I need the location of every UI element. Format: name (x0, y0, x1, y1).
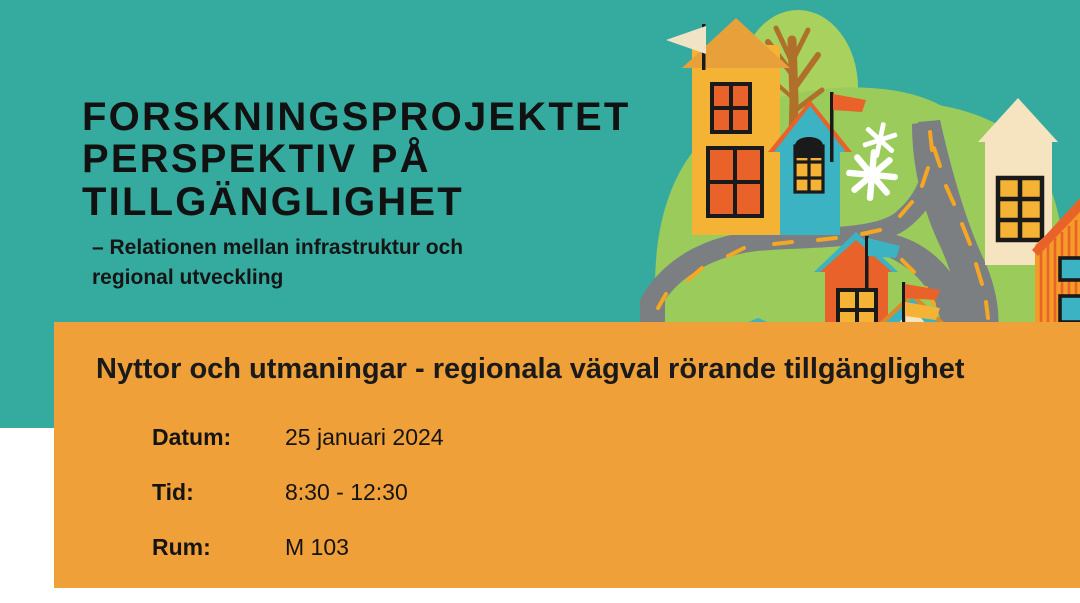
poster-slide: FORSKNINGSPROJEKTET PERSPEKTIV PÅ TILLGÄ… (0, 0, 1080, 603)
subtitle-line-2: regional utveckling (92, 263, 612, 293)
detail-row-date: Datum: 25 januari 2024 (152, 424, 444, 451)
orange-info-panel: Nyttor och utmaningar - regionala vägval… (54, 322, 1080, 588)
title-line-3: TILLGÄNGLIGHET (82, 181, 642, 223)
event-details-list: Datum: 25 januari 2024 Tid: 8:30 - 12:30… (152, 424, 444, 561)
detail-label-time: Tid: (152, 479, 285, 506)
title-block: FORSKNINGSPROJEKTET PERSPEKTIV PÅ TILLGÄ… (82, 96, 642, 293)
village-landscape-illustration (640, 0, 1080, 330)
detail-value-room: M 103 (285, 534, 349, 561)
page-subtitle: – Relationen mellan infrastruktur och re… (92, 233, 612, 293)
detail-row-time: Tid: 8:30 - 12:30 (152, 479, 444, 506)
page-title: FORSKNINGSPROJEKTET PERSPEKTIV PÅ TILLGÄ… (82, 96, 642, 223)
detail-label-room: Rum: (152, 534, 285, 561)
title-line-2: PERSPEKTIV PÅ (82, 138, 642, 180)
detail-row-room: Rum: M 103 (152, 534, 444, 561)
subtitle-line-1: – Relationen mellan infrastruktur och (92, 233, 612, 263)
detail-label-date: Datum: (152, 424, 285, 451)
detail-value-time: 8:30 - 12:30 (285, 479, 408, 506)
detail-value-date: 25 januari 2024 (285, 424, 444, 451)
event-heading: Nyttor och utmaningar - regionala vägval… (96, 354, 965, 386)
title-line-1: FORSKNINGSPROJEKTET (82, 96, 642, 138)
